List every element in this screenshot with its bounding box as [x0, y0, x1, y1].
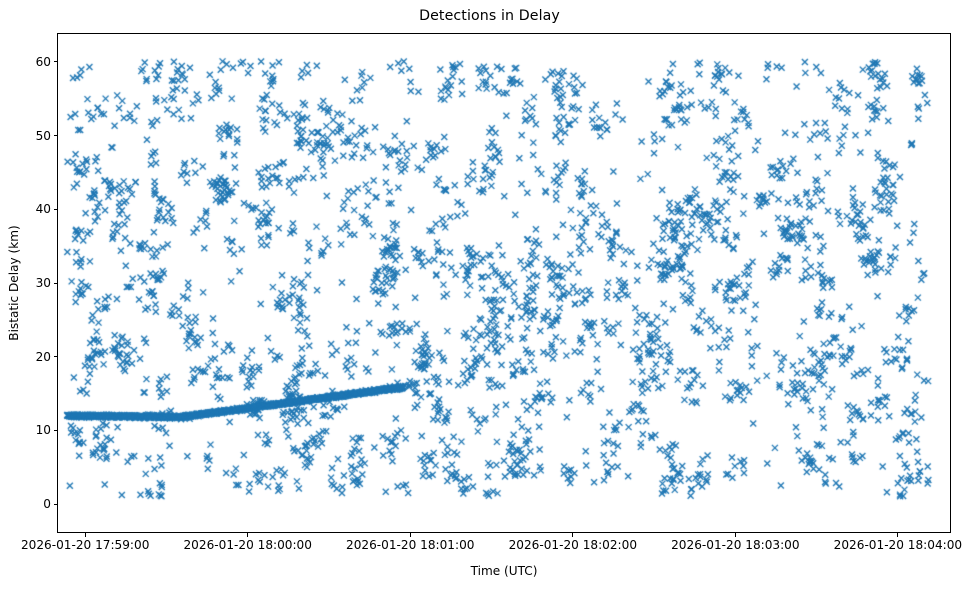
x-axis-tick-labels: 2026-01-20 17:59:002026-01-20 18:00:0020…	[0, 0, 979, 590]
x-axis-label: Time (UTC)	[57, 564, 951, 578]
figure-canvas: Detections in Delay Bistatic Delay (km) …	[0, 0, 979, 590]
x-tick-label: 2026-01-20 18:03:00	[671, 538, 799, 552]
x-tick-label: 2026-01-20 17:59:00	[21, 538, 149, 552]
x-tick-label: 2026-01-20 18:04:00	[834, 538, 962, 552]
x-tick-label: 2026-01-20 18:00:00	[183, 538, 311, 552]
x-tick-label: 2026-01-20 18:02:00	[509, 538, 637, 552]
x-tick-label: 2026-01-20 18:01:00	[346, 538, 474, 552]
